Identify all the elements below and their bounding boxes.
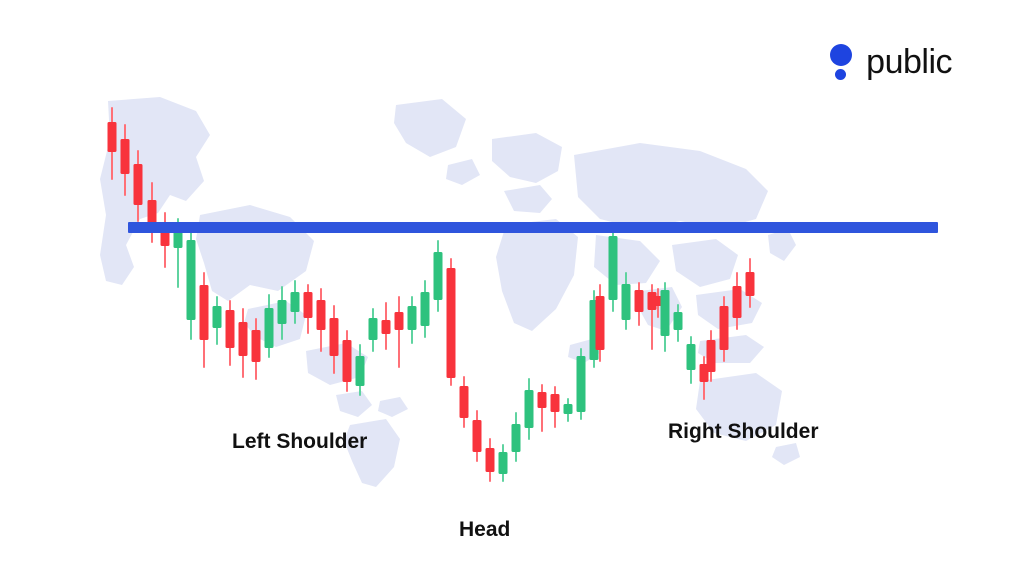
candle-wick xyxy=(203,272,205,368)
candle-body xyxy=(564,404,573,414)
candle-wick xyxy=(151,182,153,243)
candle-wick xyxy=(229,300,231,366)
candle-body xyxy=(108,122,117,152)
candlestick xyxy=(590,290,599,368)
candlestick xyxy=(134,150,143,222)
candlestick xyxy=(187,228,196,340)
candle-wick xyxy=(703,356,705,400)
candle-wick xyxy=(554,386,556,428)
candle-body xyxy=(134,164,143,205)
candlestick xyxy=(252,318,261,380)
candle-wick xyxy=(450,258,452,386)
candle-body xyxy=(343,340,352,382)
candle-body xyxy=(265,308,274,348)
candlestick xyxy=(317,288,326,352)
candle-body xyxy=(121,139,130,174)
candlestick xyxy=(622,272,631,330)
candle-body xyxy=(369,318,378,340)
candle-wick xyxy=(190,228,192,340)
candlestick xyxy=(700,356,709,400)
candlestick xyxy=(395,296,404,368)
candle-wick xyxy=(502,444,504,482)
candle-body xyxy=(674,312,683,330)
candlestick xyxy=(687,336,696,384)
candle-wick xyxy=(124,124,126,196)
candle-wick xyxy=(372,308,374,352)
chart-canvas: public Left Shoulder Head Right Shoulder xyxy=(0,0,1024,576)
candle-wick xyxy=(359,344,361,396)
candle-wick xyxy=(690,336,692,384)
candle-wick xyxy=(424,280,426,338)
candlestick xyxy=(654,288,663,318)
candle-wick xyxy=(567,398,569,422)
candle-wick xyxy=(385,302,387,350)
candle-body xyxy=(687,344,696,370)
candle-body xyxy=(330,318,339,356)
candlestick xyxy=(609,228,618,312)
annotation-right-shoulder: Right Shoulder xyxy=(668,420,819,444)
candle-wick xyxy=(736,272,738,330)
candle-body xyxy=(596,296,605,350)
candle-wick xyxy=(320,288,322,352)
candle-body xyxy=(661,290,670,336)
candle-body xyxy=(733,286,742,318)
candle-body xyxy=(473,420,482,452)
candle-body xyxy=(395,312,404,330)
candle-wick xyxy=(333,305,335,374)
candlestick-series xyxy=(0,0,1024,576)
candle-body xyxy=(538,392,547,408)
candle-body xyxy=(654,296,663,306)
candlestick xyxy=(648,284,657,350)
candle-body xyxy=(707,340,716,372)
candlestick xyxy=(746,258,755,308)
candle-wick xyxy=(541,384,543,432)
candle-wick xyxy=(625,272,627,330)
annotation-left-shoulder: Left Shoulder xyxy=(232,430,367,454)
candle-body xyxy=(304,292,313,318)
candle-body xyxy=(239,322,248,356)
candlestick xyxy=(707,330,716,382)
candle-wick xyxy=(437,240,439,312)
candle-wick xyxy=(664,282,666,352)
candle-wick xyxy=(398,296,400,368)
candle-wick xyxy=(307,284,309,334)
candlestick xyxy=(265,294,274,358)
candlestick xyxy=(473,410,482,462)
candlestick xyxy=(108,107,117,180)
candle-body xyxy=(278,300,287,324)
candlestick xyxy=(577,348,586,420)
candle-wick xyxy=(593,290,595,368)
candle-wick xyxy=(216,296,218,345)
candlestick xyxy=(512,412,521,462)
candlestick xyxy=(213,296,222,345)
candle-body xyxy=(609,236,618,300)
candlestick xyxy=(447,258,456,386)
candle-wick xyxy=(411,296,413,344)
candlestick xyxy=(291,280,300,324)
candle-body xyxy=(434,252,443,300)
annotation-head: Head xyxy=(459,518,510,542)
candle-body xyxy=(447,268,456,378)
candlestick xyxy=(343,330,352,392)
candle-wick xyxy=(599,284,601,362)
candle-body xyxy=(525,390,534,428)
candle-wick xyxy=(710,330,712,382)
candle-body xyxy=(421,292,430,326)
candlestick xyxy=(674,304,683,342)
candlestick xyxy=(200,272,209,368)
candle-wick xyxy=(612,228,614,312)
candlestick xyxy=(239,308,248,378)
candle-body xyxy=(700,364,709,382)
candle-wick xyxy=(515,412,517,462)
candlestick xyxy=(551,386,560,428)
candle-body xyxy=(226,310,235,348)
candle-wick xyxy=(294,280,296,324)
candle-body xyxy=(590,300,599,360)
logo-large-dot xyxy=(830,44,852,66)
candle-wick xyxy=(657,288,659,318)
candle-body xyxy=(187,240,196,320)
candle-body xyxy=(499,452,508,474)
candlestick xyxy=(408,296,417,344)
candle-body xyxy=(486,448,495,472)
candle-wick xyxy=(489,438,491,482)
candlestick xyxy=(330,305,339,374)
candle-wick xyxy=(255,318,257,380)
candle-body xyxy=(512,424,521,452)
candle-wick xyxy=(580,348,582,420)
candle-body xyxy=(622,284,631,320)
candle-wick xyxy=(528,378,530,440)
candle-body xyxy=(317,300,326,330)
candle-wick xyxy=(281,286,283,340)
candlestick xyxy=(278,286,287,340)
candle-body xyxy=(577,356,586,412)
candle-body xyxy=(720,306,729,350)
candle-wick xyxy=(749,258,751,308)
candlestick xyxy=(121,124,130,196)
candlestick xyxy=(148,182,157,243)
candlestick xyxy=(460,376,469,428)
candlestick xyxy=(538,384,547,432)
candlestick xyxy=(226,300,235,366)
logo-small-dot xyxy=(835,69,846,80)
public-dot-icon xyxy=(828,42,854,82)
candlestick xyxy=(661,282,670,352)
candle-wick xyxy=(242,308,244,378)
candle-wick xyxy=(638,282,640,326)
candle-wick xyxy=(476,410,478,462)
candlestick xyxy=(434,240,443,312)
candlestick xyxy=(733,272,742,330)
candlestick xyxy=(161,212,170,268)
candle-wick xyxy=(677,304,679,342)
candlestick xyxy=(356,344,365,396)
candle-body xyxy=(252,330,261,362)
candle-body xyxy=(213,306,222,328)
candle-body xyxy=(460,386,469,418)
candlestick xyxy=(525,378,534,440)
candle-wick xyxy=(164,212,166,268)
candlestick xyxy=(304,284,313,334)
candlestick xyxy=(499,444,508,482)
brand-name: public xyxy=(866,45,952,79)
candle-wick xyxy=(137,150,139,222)
candle-body xyxy=(551,394,560,412)
candlestick xyxy=(382,302,391,350)
candle-body xyxy=(746,272,755,296)
candlestick xyxy=(596,284,605,362)
candle-body xyxy=(408,306,417,330)
candle-body xyxy=(648,292,657,310)
candlestick xyxy=(564,398,573,422)
candlestick xyxy=(369,308,378,352)
candlestick xyxy=(635,282,644,326)
candle-body xyxy=(356,356,365,386)
candle-body xyxy=(635,290,644,312)
candle-body xyxy=(200,285,209,340)
candle-wick xyxy=(463,376,465,428)
candle-body xyxy=(382,320,391,334)
candle-wick xyxy=(651,284,653,350)
candle-body xyxy=(291,292,300,312)
neckline-level xyxy=(128,222,938,233)
candle-wick xyxy=(346,330,348,392)
candle-wick xyxy=(268,294,270,358)
candle-wick xyxy=(111,107,113,180)
brand-logo: public xyxy=(828,42,952,82)
candlestick xyxy=(720,296,729,362)
candlestick xyxy=(421,280,430,338)
candlestick xyxy=(486,438,495,482)
candle-wick xyxy=(723,296,725,362)
